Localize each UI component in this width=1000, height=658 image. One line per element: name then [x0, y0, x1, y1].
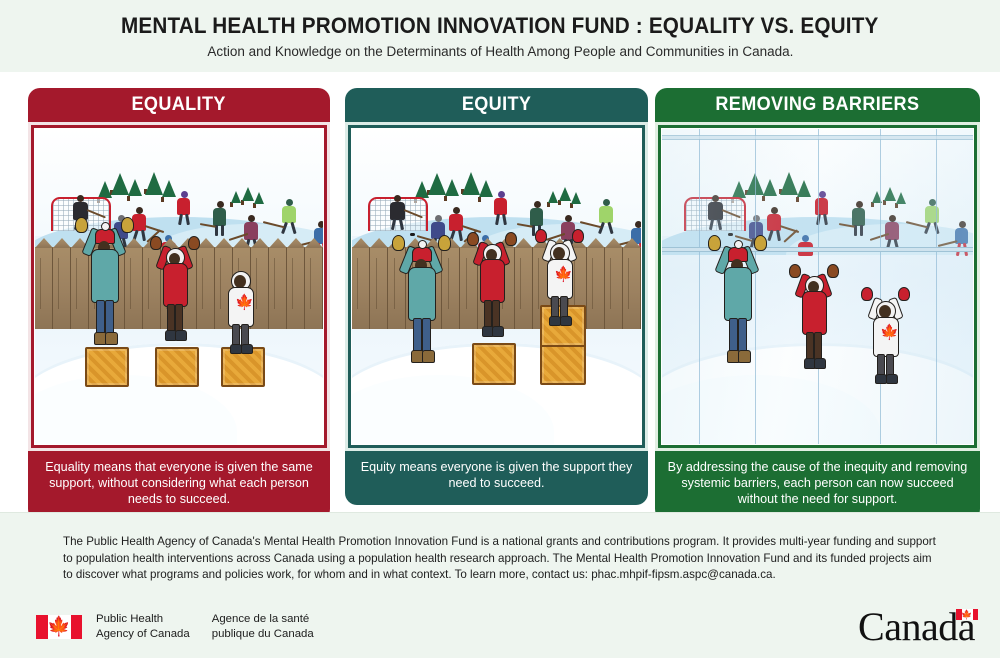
page-subtitle: Action and Knowledge on the Determinants… [207, 44, 793, 60]
panel-equality-caption: Equality means that everyone is given th… [28, 451, 330, 521]
panel-removing-barriers: REMOVING BARRIERS [655, 88, 980, 521]
panels-stage: EQUALITY [0, 72, 1000, 512]
panel-barriers-illustration: 🍁 [661, 128, 974, 445]
panel-barriers-body: 🍁 [655, 122, 980, 451]
panel-equality-body: 🍁 [28, 122, 330, 451]
panel-equality-heading: EQUALITY [132, 94, 226, 116]
signature-french: Agence de la santé publique du Canada [212, 612, 314, 641]
footer: The Public Health Agency of Canada's Men… [0, 512, 1000, 658]
panel-barriers-caption: By addressing the cause of the inequity … [655, 451, 980, 521]
crate [155, 347, 199, 387]
phac-signature: 🍁 Public Health Agency of Canada Agence … [36, 612, 314, 641]
panel-equity-illustration: 🍁 [351, 128, 642, 445]
signature-english: Public Health Agency of Canada [96, 612, 190, 641]
panel-equality-header: EQUALITY [28, 88, 330, 122]
page-title: MENTAL HEALTH PROMOTION INNOVATION FUND … [121, 13, 879, 39]
panel-barriers-heading: REMOVING BARRIERS [715, 94, 919, 116]
panel-equity: EQUITY [345, 88, 648, 505]
crate [540, 343, 586, 385]
panel-equality-illustration: 🍁 [34, 128, 324, 445]
header: MENTAL HEALTH PROMOTION INNOVATION FUND … [0, 0, 1000, 72]
crate [472, 343, 516, 385]
canada-flag-icon: 🍁 [36, 615, 82, 639]
footer-blurb: The Public Health Agency of Canada's Men… [63, 534, 943, 584]
panel-equality: EQUALITY [28, 88, 330, 521]
panel-equity-caption: Equity means everyone is given the suppo… [345, 451, 648, 505]
canada-wordmark: Canada 🍁 [858, 608, 978, 646]
crate [85, 347, 129, 387]
panel-equity-header: EQUITY [345, 88, 648, 122]
footer-divider [0, 512, 1000, 513]
wordmark-flag-icon: 🍁 [956, 609, 978, 620]
infographic-page: MENTAL HEALTH PROMOTION INNOVATION FUND … [0, 0, 1000, 658]
panel-barriers-header: REMOVING BARRIERS [655, 88, 980, 122]
panel-equity-body: 🍁 [345, 122, 648, 451]
panel-equity-heading: EQUITY [462, 94, 531, 116]
